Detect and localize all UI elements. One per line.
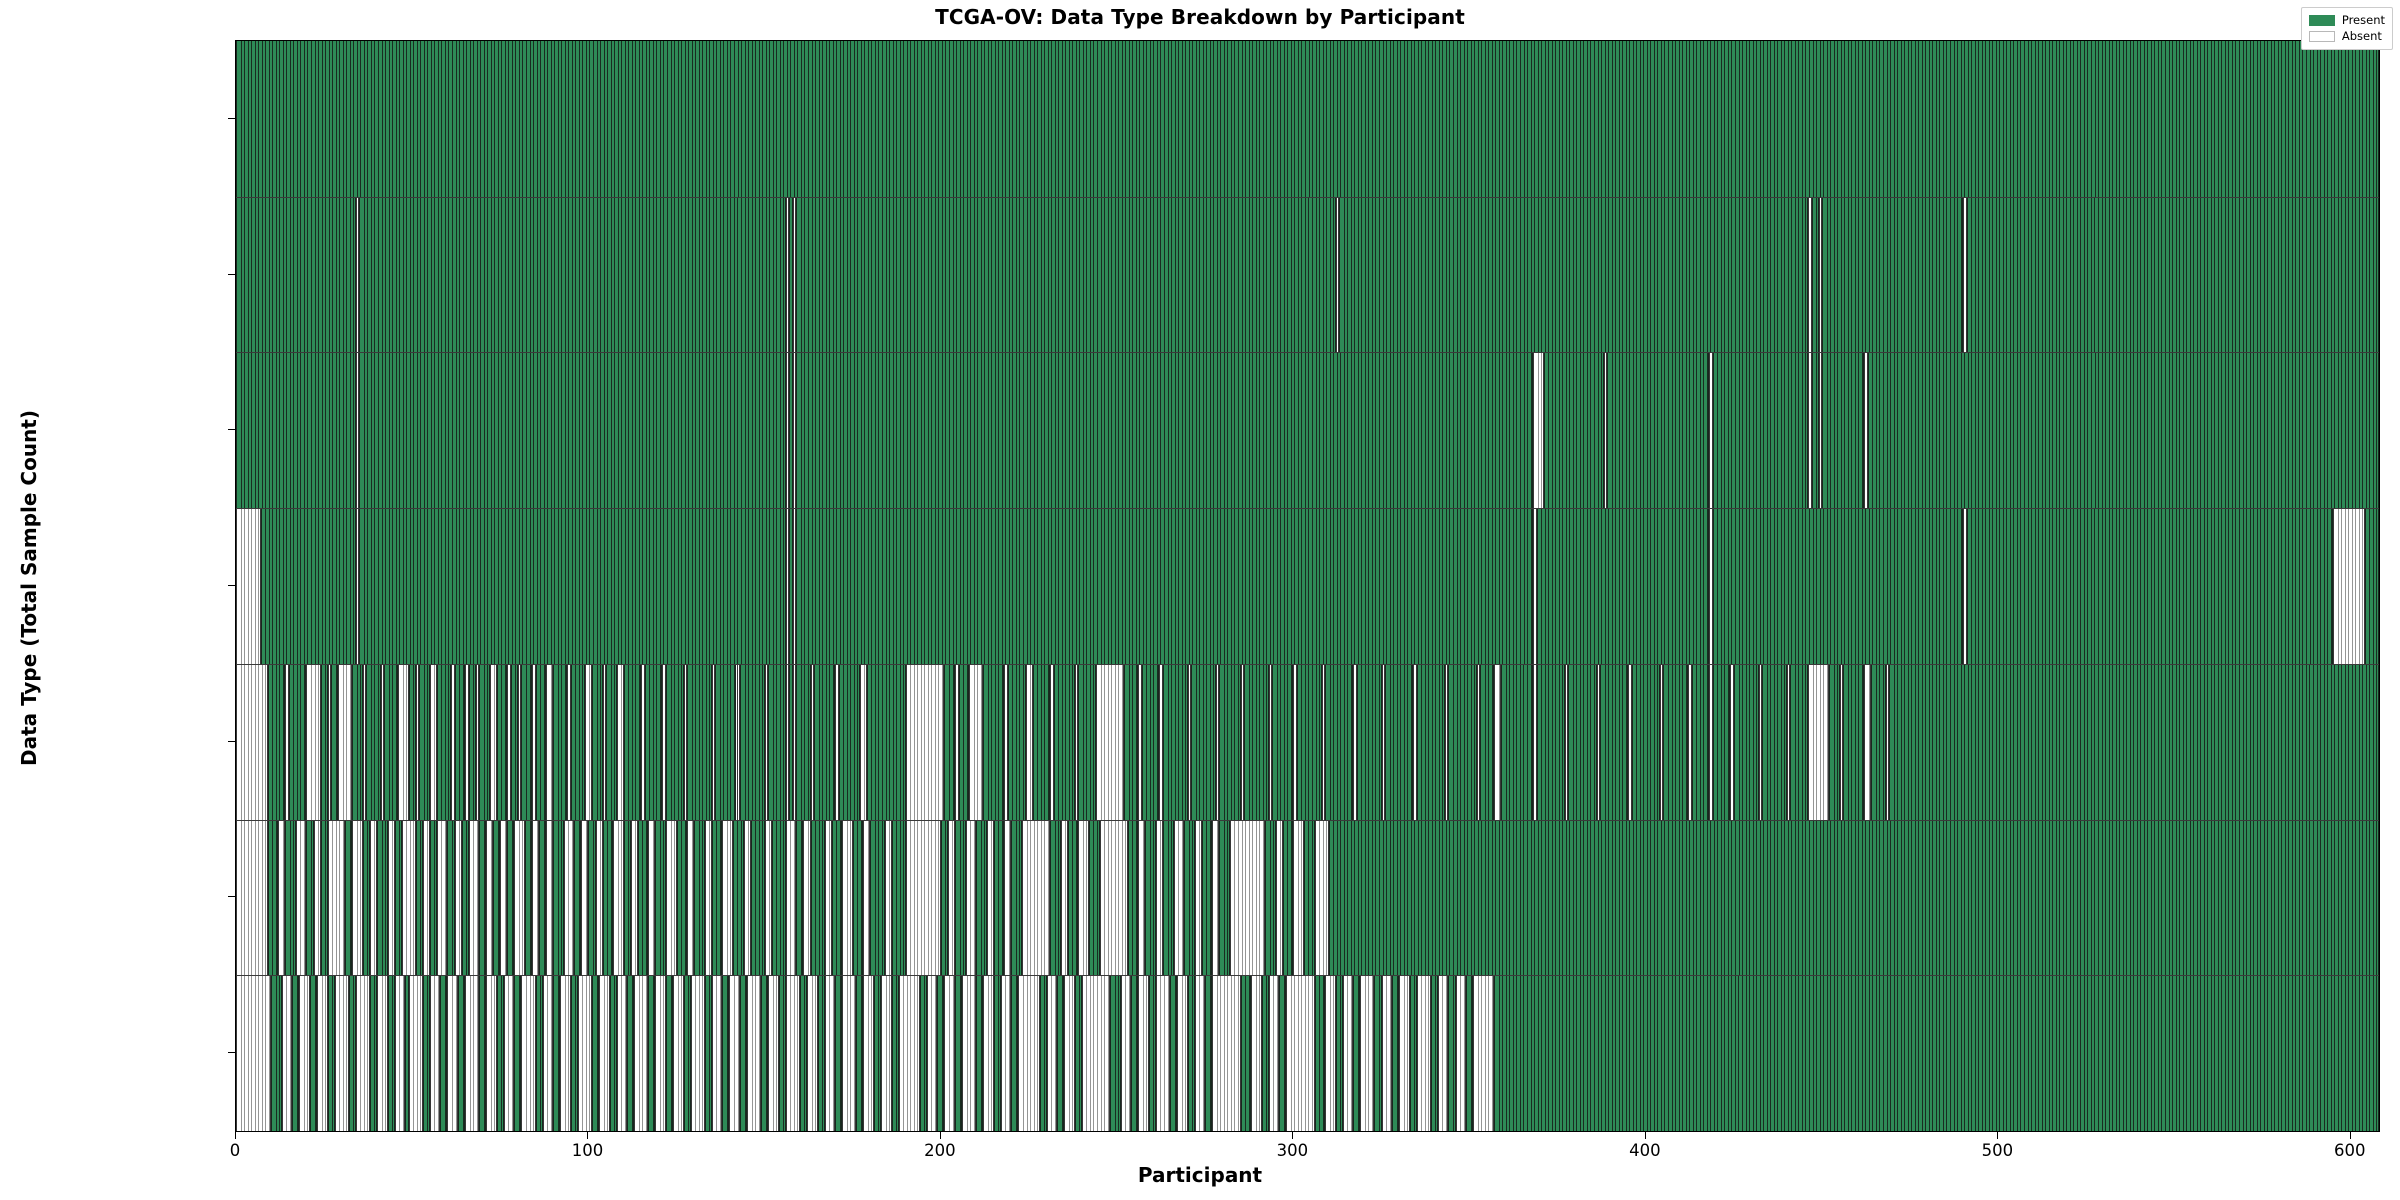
heatmap-cell: [1431, 975, 1438, 1131]
x-tick-label: 200: [924, 1141, 956, 1160]
heatmap-cell: [962, 975, 976, 1131]
heatmap-cell: [1100, 820, 1128, 976]
heatmap-cell: [1544, 352, 1604, 508]
heatmap-cell: [976, 975, 983, 1131]
heatmap-cell: [1325, 664, 1353, 820]
heatmap-cell: [1293, 820, 1304, 976]
heatmap-cell: [306, 664, 320, 820]
heatmap-cell: [634, 975, 648, 1131]
legend-item-present: Present: [2309, 12, 2385, 28]
heatmap-cell: [722, 975, 729, 1131]
heatmap-cell: [352, 664, 363, 820]
heatmap-cell: [497, 975, 504, 1131]
heatmap-cell: [1219, 664, 1240, 820]
heatmap-cell: [856, 975, 863, 1131]
heatmap-cell: [715, 664, 736, 820]
heatmap-cell: [796, 508, 1533, 664]
heatmap-cell: [292, 975, 299, 1131]
x-tick-mark: [2350, 1132, 2351, 1139]
heatmap-cell: [673, 975, 684, 1131]
heatmap-cell: [419, 664, 430, 820]
heatmap-cell: [1244, 664, 1269, 820]
heatmap-cell: [532, 820, 539, 976]
heatmap-cell: [388, 975, 395, 1131]
heatmap-cell: [437, 820, 448, 976]
heatmap-cell: [1607, 352, 1709, 508]
heatmap-cell: [1473, 975, 1494, 1131]
heatmap-cell: [885, 820, 892, 976]
heatmap-cell: [1304, 820, 1315, 976]
heatmap-cell: [310, 975, 317, 1131]
heatmap-cell: [1262, 975, 1269, 1131]
heatmap-cell: [624, 820, 631, 976]
heatmap-cell: [1011, 820, 1022, 976]
heatmap-cell: [627, 975, 634, 1131]
heatmap-cell: [1279, 975, 1286, 1131]
heatmap-cell: [624, 664, 642, 820]
heatmap-cell: [761, 975, 768, 1131]
heatmap-cell: [1410, 975, 1417, 1131]
heatmap-cell: [571, 664, 585, 820]
heatmap-cell: [944, 664, 955, 820]
heatmap-cell: [1822, 352, 1864, 508]
heatmap-cell: [747, 975, 761, 1131]
heatmap-cell: [507, 820, 514, 976]
heatmap-cell: [920, 975, 927, 1131]
heatmap-cell: [359, 352, 785, 508]
heatmap-cell: [1889, 664, 2379, 820]
heatmap-cell: [906, 664, 945, 820]
heatmap-cell: [416, 820, 423, 976]
heatmap-cell: [465, 975, 479, 1131]
heatmap-cell: [455, 664, 466, 820]
heatmap-cell: [437, 664, 451, 820]
heatmap-cell: [236, 820, 268, 976]
heatmap-cell: [462, 820, 469, 976]
heatmap-cell: [1967, 508, 2334, 664]
heatmap-cell: [1156, 975, 1170, 1131]
heatmap-cell: [236, 41, 2379, 197]
heatmap-cell: [1022, 820, 1050, 976]
x-tick-label: 0: [230, 1141, 241, 1160]
heatmap-cell: [811, 820, 825, 976]
heatmap-cell: [574, 820, 581, 976]
heatmap-cell: [1663, 664, 1688, 820]
heatmap-cell: [1494, 664, 1501, 820]
heatmap-cell: [536, 975, 543, 1131]
heatmap-cell: [705, 975, 712, 1131]
heatmap-cell: [321, 820, 328, 976]
heatmap-cell: [638, 820, 649, 976]
legend-label-absent: Absent: [2342, 29, 2382, 43]
heatmap-cell: [1276, 820, 1283, 976]
heatmap-cell: [370, 975, 377, 1131]
y-tick-mark: [228, 741, 235, 742]
heatmap-cell: [1456, 975, 1467, 1131]
heatmap-cell: [359, 197, 785, 353]
heatmap-cell: [631, 820, 638, 976]
heatmap-cell: [1374, 975, 1381, 1131]
heatmap-cell: [1128, 820, 1139, 976]
legend-item-absent: Absent: [2309, 28, 2385, 44]
heatmap-cell: [331, 664, 338, 820]
heatmap-cell: [944, 975, 955, 1131]
heatmap-cell: [694, 820, 705, 976]
heatmap-row-clinical: [236, 508, 2379, 664]
heatmap-cell: [1417, 975, 1431, 1131]
heatmap-cell: [722, 820, 733, 976]
heatmap-cell: [1812, 197, 1819, 353]
heatmap-cell: [1533, 352, 1544, 508]
heatmap-cell: [1353, 975, 1360, 1131]
heatmap-cell: [539, 820, 546, 976]
heatmap-cell: [1967, 197, 2379, 353]
heatmap-cell: [236, 664, 268, 820]
heatmap-cell: [430, 664, 437, 820]
heatmap-cell: [617, 975, 628, 1131]
heatmap-cell: [1202, 820, 1213, 976]
heatmap-cell: [666, 820, 677, 976]
heatmap-cell: [236, 352, 356, 508]
heatmap-cell: [966, 820, 977, 976]
y-tick-mark: [228, 429, 235, 430]
heatmap-cell: [1537, 664, 1565, 820]
heatmap-cell: [1251, 975, 1262, 1131]
heatmap-cell: [617, 664, 624, 820]
heatmap-cell: [1047, 975, 1058, 1131]
heatmap-plot-area: [235, 40, 2380, 1132]
heatmap-cell: [1283, 820, 1294, 976]
heatmap-cell: [1417, 664, 1445, 820]
heatmap-cell: [1061, 820, 1068, 976]
y-tick-mark: [228, 274, 235, 275]
legend: Present Absent: [2301, 7, 2393, 50]
heatmap-cell: [1082, 975, 1110, 1131]
heatmap-cell: [1156, 820, 1163, 976]
heatmap-cell: [479, 975, 486, 1131]
x-tick-label: 400: [1629, 1141, 1661, 1160]
heatmap-cell: [447, 820, 454, 976]
x-tick-label: 500: [1982, 1141, 2014, 1160]
heatmap-cell: [1713, 352, 1808, 508]
heatmap-cell: [906, 820, 941, 976]
heatmap-cell: [786, 820, 797, 976]
heatmap-cell: [677, 820, 688, 976]
x-axis-title: Participant: [0, 1163, 2400, 1187]
heatmap-row-mir: [236, 664, 2379, 820]
heatmap-cell: [655, 820, 666, 976]
heatmap-cell: [853, 820, 864, 976]
heatmap-cell: [1191, 664, 1216, 820]
heatmap-cell: [983, 975, 994, 1131]
heatmap-cell: [1808, 664, 1829, 820]
heatmap-cell: [536, 664, 547, 820]
heatmap-cell: [1195, 820, 1202, 976]
heatmap-cell: [1121, 975, 1132, 1131]
heatmap-cell: [1124, 664, 1138, 820]
heatmap-cell: [486, 975, 497, 1131]
heatmap-cell: [493, 820, 500, 976]
heatmap-cell: [1004, 820, 1011, 976]
heatmap-cell: [306, 820, 313, 976]
heatmap-cell: [1448, 664, 1476, 820]
heatmap-cell: [1713, 664, 1731, 820]
heatmap-cell: [317, 975, 328, 1131]
heatmap-cell: [796, 820, 803, 976]
heatmap-cell: [543, 975, 554, 1131]
heatmap-cell: [1230, 820, 1265, 976]
heatmap-cell: [1713, 508, 1963, 664]
heatmap-cell: [370, 820, 377, 976]
heatmap-cell: [796, 664, 810, 820]
heatmap-cell: [599, 975, 610, 1131]
heatmap-cell: [1286, 975, 1314, 1131]
heatmap-cell: [832, 820, 843, 976]
heatmap-cell: [546, 664, 553, 820]
heatmap-cell: [1494, 975, 2379, 1131]
heatmap-cell: [603, 820, 614, 976]
heatmap-cell: [578, 975, 592, 1131]
heatmap-cell: [1212, 820, 1219, 976]
heatmap-cell: [278, 820, 285, 976]
heatmap-cell: [328, 975, 335, 1131]
heatmap-cell: [409, 975, 423, 1131]
heatmap-cell: [803, 820, 810, 976]
heatmap-cell: [1336, 975, 1343, 1131]
heatmap-cell: [1145, 820, 1156, 976]
heatmap-cell: [768, 664, 786, 820]
heatmap-cell: [497, 664, 508, 820]
heatmap-cell: [564, 820, 575, 976]
heatmap-cell: [1399, 975, 1410, 1131]
heatmap-cell: [395, 975, 406, 1131]
heatmap-cell: [377, 820, 388, 976]
heatmap-cell: [825, 975, 836, 1131]
heatmap-cell: [469, 820, 480, 976]
heatmap-cell: [486, 820, 493, 976]
heatmap-cell: [514, 820, 525, 976]
heatmap-cell: [1089, 820, 1100, 976]
heatmap-cell: [1001, 975, 1012, 1131]
heatmap-cell: [1026, 664, 1033, 820]
heatmap-cell: [796, 352, 1533, 508]
heatmap-cell: [581, 820, 588, 976]
x-tick-mark: [1292, 1132, 1293, 1139]
legend-label-present: Present: [2342, 13, 2385, 27]
heatmap-cell: [440, 975, 447, 1131]
heatmap-cell: [335, 975, 349, 1131]
y-tick-mark: [228, 585, 235, 586]
heatmap-cell: [772, 820, 786, 976]
heatmap-cell: [648, 820, 655, 976]
heatmap-cell: [1438, 975, 1449, 1131]
heatmap-cell: [796, 197, 1335, 353]
y-tick-mark: [228, 1052, 235, 1053]
heatmap-cell: [314, 820, 321, 976]
chart-figure: TCGA-OV: Data Type Breakdown by Particip…: [0, 0, 2400, 1200]
x-tick-mark: [235, 1132, 236, 1139]
heatmap-cell: [610, 975, 617, 1131]
heatmap-cell: [1212, 975, 1240, 1131]
x-tick-mark: [587, 1132, 588, 1139]
heatmap-cell: [842, 975, 856, 1131]
heatmap-cell: [955, 975, 962, 1131]
heatmap-cell: [1075, 975, 1082, 1131]
heatmap-cell: [948, 820, 955, 976]
heatmap-cell: [881, 975, 892, 1131]
heatmap-cell: [1829, 664, 1840, 820]
heatmap-cell: [525, 820, 532, 976]
heatmap-cell: [1205, 975, 1212, 1131]
heatmap-cell: [511, 664, 518, 820]
heatmap-cell: [1096, 664, 1124, 820]
y-tick-mark: [228, 896, 235, 897]
heatmap-cell: [490, 664, 497, 820]
heatmap-cell: [1011, 975, 1018, 1131]
heatmap-cell: [469, 664, 476, 820]
heatmap-cell: [1018, 975, 1039, 1131]
heatmap-cell: [779, 975, 786, 1131]
heatmap-cell: [1360, 975, 1374, 1131]
heatmap-cell: [1057, 975, 1064, 1131]
heatmap-cell: [1692, 664, 1710, 820]
heatmap-cell: [236, 975, 271, 1131]
heatmap-cell: [388, 820, 395, 976]
heatmap-cell: [349, 975, 356, 1131]
heatmap-cell: [712, 820, 723, 976]
heatmap-cell: [430, 820, 437, 976]
heatmap-cell: [987, 820, 994, 976]
heatmap-cell: [740, 975, 747, 1131]
heatmap-cell: [733, 820, 744, 976]
heatmap-cell: [1078, 820, 1089, 976]
heatmap-cell: [1868, 352, 2379, 508]
legend-swatch-present-icon: [2309, 15, 2335, 26]
heatmap-cell: [1054, 664, 1075, 820]
heatmap-cell: [1339, 197, 1808, 353]
heatmap-row-mrna: [236, 975, 2379, 1131]
heatmap-cell: [345, 820, 352, 976]
heatmap-cell: [687, 664, 712, 820]
heatmap-cell: [1357, 664, 1382, 820]
heatmap-cell: [687, 820, 694, 976]
heatmap-cell: [363, 820, 370, 976]
heatmap-cell: [553, 975, 560, 1131]
heatmap-cell: [1064, 975, 1075, 1131]
heatmap-cell: [1448, 975, 1455, 1131]
heatmap-cell: [1480, 664, 1494, 820]
heatmap-cell: [867, 664, 906, 820]
heatmap-cell: [2333, 508, 2365, 664]
heatmap-cell: [430, 975, 441, 1131]
heatmap-cell: [899, 975, 920, 1131]
x-tick-mark: [940, 1132, 941, 1139]
heatmap-cell: [712, 975, 723, 1131]
heatmap-cell: [1138, 820, 1145, 976]
heatmap-cell: [937, 975, 944, 1131]
heatmap-cell: [1008, 664, 1026, 820]
x-tick-label: 600: [2334, 1141, 2366, 1160]
heatmap-cell: [553, 820, 564, 976]
heatmap-cell: [941, 820, 948, 976]
heatmap-cell: [666, 975, 673, 1131]
heatmap-cell: [268, 820, 279, 976]
heatmap-cell: [648, 975, 655, 1131]
heatmap-cell: [398, 664, 409, 820]
heatmap-cell: [744, 820, 751, 976]
heatmap-cell: [479, 664, 490, 820]
x-tick-label: 300: [1277, 1141, 1309, 1160]
legend-swatch-absent-icon: [2309, 31, 2335, 42]
heatmap-cell: [1600, 664, 1628, 820]
heatmap-cell: [1265, 820, 1276, 976]
heatmap-cell: [768, 975, 779, 1131]
heatmap-cell: [384, 664, 398, 820]
heatmap-cell: [1174, 820, 1185, 976]
heatmap-cell: [1329, 820, 2379, 976]
heatmap-cell: [261, 508, 356, 664]
heatmap-cell: [1297, 664, 1322, 820]
heatmap-cell: [1325, 975, 1336, 1131]
heatmap-cell: [479, 820, 486, 976]
heatmap-cell: [969, 664, 983, 820]
page-title: TCGA-OV: Data Type Breakdown by Particip…: [0, 5, 2400, 29]
heatmap-cell: [1131, 975, 1138, 1131]
heatmap-cell: [1110, 975, 1121, 1131]
heatmap-cell: [1568, 664, 1596, 820]
heatmap-cell: [1149, 975, 1156, 1131]
heatmap-cell: [1382, 975, 1393, 1131]
heatmap-cell: [1537, 508, 1710, 664]
heatmap-cell: [842, 820, 853, 976]
heatmap-cell: [1315, 975, 1326, 1131]
heatmap-cell: [285, 820, 296, 976]
heatmap-cell: [1188, 975, 1195, 1131]
heatmap-cell: [359, 508, 785, 664]
heatmap-cell: [377, 975, 388, 1131]
heatmap-cell: [338, 664, 352, 820]
heatmap-cell: [1762, 664, 1787, 820]
heatmap-cell: [356, 975, 370, 1131]
heatmap-cell: [553, 664, 567, 820]
heatmap-cell: [521, 664, 532, 820]
heatmap-row-maf: [236, 820, 2379, 976]
heatmap-cell: [500, 820, 507, 976]
heatmap-cell: [409, 664, 416, 820]
heatmap-cell: [546, 820, 553, 976]
y-tick-mark: [228, 118, 235, 119]
heatmap-row-bcr: [236, 41, 2379, 197]
heatmap-cell: [268, 664, 286, 820]
heatmap-cell: [236, 508, 261, 664]
heatmap-cell: [560, 975, 571, 1131]
heatmap-cell: [691, 975, 705, 1131]
heatmap-cell: [1040, 975, 1047, 1131]
heatmap-cell: [296, 820, 307, 976]
heatmap-cell: [328, 820, 346, 976]
heatmap-cell: [352, 820, 363, 976]
heatmap-cell: [613, 820, 624, 976]
heatmap-cell: [835, 975, 842, 1131]
heatmap-cell: [955, 820, 966, 976]
heatmap-cell: [1177, 975, 1188, 1131]
heatmap-cell: [455, 820, 462, 976]
heatmap-cell: [684, 975, 691, 1131]
heatmap-cell: [959, 664, 970, 820]
heatmap-cell: [458, 975, 465, 1131]
heatmap-cell: [514, 975, 521, 1131]
heatmap-cell: [1343, 975, 1354, 1131]
